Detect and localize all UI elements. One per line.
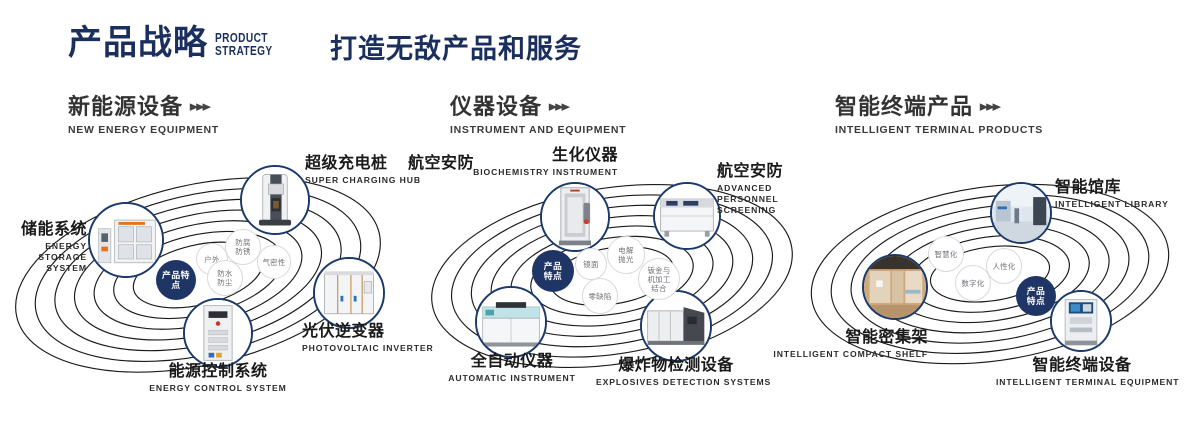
label-cn: 智能终端设备 [996, 356, 1168, 375]
feature-bubble-text: 数字化 [961, 279, 984, 288]
label-cn: 智能密集架 [758, 328, 928, 347]
poster-canvas: 产品战略 PRODUCT STRATEGY 打造无敌产品和服务 新能源设备▸▸▸… [0, 0, 1200, 422]
feature-bubble-intelligence: 智慧化 [928, 236, 964, 272]
compact-shelf-icon [864, 256, 926, 318]
feature-bubble-main: 产品特点 [156, 260, 196, 300]
feature-bubble-text: 钣金与机加工结合 [644, 266, 674, 293]
section-heading-cn: 仪器设备▸▸▸ [450, 94, 626, 120]
feature-bubble-sheetmetal-machining: 钣金与机加工结合 [638, 258, 680, 300]
label-en: ENERGY STORAGE SYSTEM [0, 241, 87, 274]
label-en: AUTOMATIC INSTRUMENT [438, 373, 586, 384]
section-heading-instrument: 仪器设备▸▸▸ INSTRUMENT AND EQUIPMENT [450, 94, 626, 136]
feature-bubble-main: 产品特点 [1016, 276, 1056, 316]
label-en: ADVANCED PERSONNEL SCREENING [717, 183, 809, 216]
label-energy-storage-system: 储能系统 ENERGY STORAGE SYSTEM [0, 220, 87, 274]
label-cn: 储能系统 [0, 220, 87, 239]
control-cabinet-icon [185, 300, 251, 366]
section-heading-en: NEW ENERGY EQUIPMENT [68, 124, 219, 136]
feature-bubble-electropolishing: 电解抛光 [607, 236, 645, 274]
biochemistry-scanner-icon [542, 184, 608, 250]
feature-bubble-airtightness: 气密性 [257, 245, 291, 279]
label-en: ENERGY CONTROL SYSTEM [148, 383, 288, 394]
section-heading-intelligent: 智能终端产品▸▸▸ INTELLIGENT TERMINAL PRODUCTS [835, 94, 1043, 136]
section-heading-cn: 智能终端产品▸▸▸ [835, 94, 1043, 120]
page-title: 产品战略 [68, 26, 208, 60]
label-intelligent-compact-shelf: 智能密集架 INTELLIGENT COMPACT SHELF [758, 328, 928, 360]
feature-bubble-mirror: 镜面 [575, 248, 607, 280]
feature-bubble-text: 防腐防锈 [233, 238, 253, 256]
label-automatic-instrument: 全自动仪器 AUTOMATIC INSTRUMENT [438, 352, 586, 384]
library-hall-icon [992, 184, 1050, 242]
label-biochemistry-instrument: 生化仪器 BIOCHEMISTRY INSTRUMENT [420, 146, 618, 178]
label-en: INTELLIGENT COMPACT SHELF [758, 349, 928, 360]
chevrons-icon: ▸▸▸ [980, 94, 999, 120]
feature-bubble-text: 零缺陷 [588, 292, 611, 301]
section-heading-cn: 新能源设备▸▸▸ [68, 94, 219, 120]
cluster-intelligent-terminal-products: 智能馆库 INTELLIGENT LIBRARY 智能密集架 INTELLIGE… [800, 150, 1200, 400]
label-energy-control-system: 能源控制系统 ENERGY CONTROL SYSTEM [148, 362, 288, 394]
cluster-instrument-and-equipment: 航空安防 生化仪器 BIOCHEMISTRY INSTRUMENT 航空安防 A… [400, 150, 820, 400]
feature-bubble-text: 气密性 [262, 258, 285, 267]
chevrons-icon: ▸▸▸ [549, 94, 568, 120]
label-en: INTELLIGENT LIBRARY [1055, 199, 1169, 210]
page-title-english-line2: STRATEGY [215, 44, 273, 57]
label-en: BIOCHEMISTRY INSTRUMENT [420, 167, 618, 178]
label-cn: 全自动仪器 [438, 352, 586, 371]
feature-bubble-text: 人性化 [992, 262, 1015, 271]
chevrons-icon: ▸▸▸ [190, 94, 209, 120]
screening-machine-icon [655, 184, 719, 248]
node-advanced-personnel-screening[interactable] [653, 182, 721, 250]
feature-bubble-text: 产品特点 [1025, 286, 1047, 306]
feature-bubble-humanization: 人性化 [986, 248, 1022, 284]
automatic-analyzer-icon [477, 288, 545, 356]
energy-storage-cabinet-icon [90, 204, 162, 276]
page-subtitle: 打造无敌产品和服务 [330, 36, 582, 63]
page-title-english: PRODUCT STRATEGY [215, 31, 273, 57]
node-photovoltaic-inverter[interactable] [313, 257, 385, 329]
label-advanced-personnel-screening: 航空安防 ADVANCED PERSONNEL SCREENING [717, 162, 809, 216]
node-energy-storage-system[interactable] [88, 202, 164, 278]
label-cn: 能源控制系统 [148, 362, 288, 381]
label-cn: 航空安防 [717, 162, 809, 181]
feature-bubble-text: 电解抛光 [616, 246, 636, 264]
label-intelligent-library: 智能馆库 INTELLIGENT LIBRARY [1055, 178, 1169, 210]
label-cn: 生化仪器 [420, 146, 618, 165]
node-biochemistry-instrument[interactable] [540, 182, 610, 252]
label-en: EXPLOSIVES DETECTION SYSTEMS [596, 377, 756, 388]
explosives-detector-icon [642, 292, 710, 360]
node-intelligent-compact-shelf[interactable] [862, 254, 928, 320]
label-cn: 智能馆库 [1055, 178, 1169, 197]
feature-bubble-text: 产品特点 [158, 270, 194, 290]
label-explosives-detection-systems: 爆炸物检测设备 EXPLOSIVES DETECTION SYSTEMS [596, 356, 756, 388]
node-intelligent-library[interactable] [990, 182, 1052, 244]
node-intelligent-terminal-equipment[interactable] [1050, 290, 1112, 352]
feature-bubble-text: 镜面 [583, 260, 598, 269]
section-heading-en: INTELLIGENT TERMINAL PRODUCTS [835, 124, 1043, 136]
feature-bubble-zero-defect: 零缺陷 [582, 278, 618, 314]
node-explosives-detection-systems[interactable] [640, 290, 712, 362]
node-automatic-instrument[interactable] [475, 286, 547, 358]
label-en: INTELLIGENT TERMINAL EQUIPMENT [996, 377, 1168, 388]
feature-bubble-main: 产品特点 [532, 250, 574, 292]
charging-pile-icon [242, 167, 308, 233]
label-cn: 爆炸物检测设备 [596, 356, 756, 375]
node-super-charging-hub[interactable] [240, 165, 310, 235]
pv-inverter-cabinet-icon [315, 259, 383, 327]
feature-bubble-waterproof: 防水防尘 [207, 260, 243, 296]
feature-bubble-text: 产品特点 [542, 261, 564, 281]
section-heading-en: INSTRUMENT AND EQUIPMENT [450, 124, 626, 136]
section-heading-new-energy: 新能源设备▸▸▸ NEW ENERGY EQUIPMENT [68, 94, 219, 136]
cluster-new-energy-equipment: 储能系统 ENERGY STORAGE SYSTEM 超级充电桩 SUPER C… [0, 150, 420, 400]
feature-bubble-text: 智慧化 [934, 250, 957, 259]
label-intelligent-terminal-equipment: 智能终端设备 INTELLIGENT TERMINAL EQUIPMENT [996, 356, 1168, 388]
terminal-kiosk-icon [1052, 292, 1110, 350]
node-energy-control-system[interactable] [183, 298, 253, 368]
feature-bubble-anticorrosion: 防腐防锈 [225, 229, 261, 265]
feature-bubble-text: 防水防尘 [215, 269, 235, 287]
